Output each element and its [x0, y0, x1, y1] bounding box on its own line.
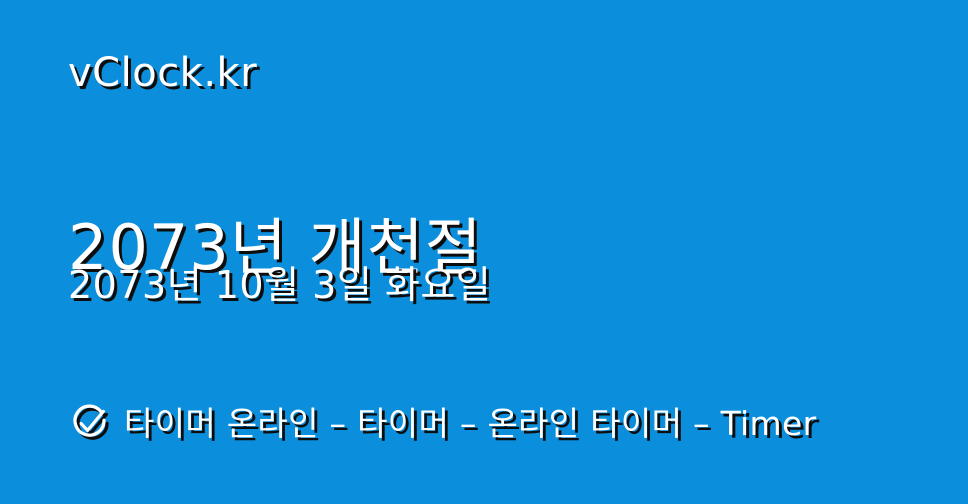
timer-link-label: 타이머 온라인 – 타이머 – 온라인 타이머 – Timer	[124, 403, 816, 445]
timer-link[interactable]: 타이머 온라인 – 타이머 – 온라인 타이머 – Timer	[68, 403, 816, 445]
holiday-date-subtitle: 2073년 10월 3일 화요일	[68, 262, 491, 308]
brand-logo[interactable]: vClock.kr	[68, 50, 257, 96]
circle-check-icon	[68, 403, 110, 445]
holiday-banner-page: vClock.kr 2073년 개천절 2073년 10월 3일 화요일 타이머…	[0, 0, 968, 504]
